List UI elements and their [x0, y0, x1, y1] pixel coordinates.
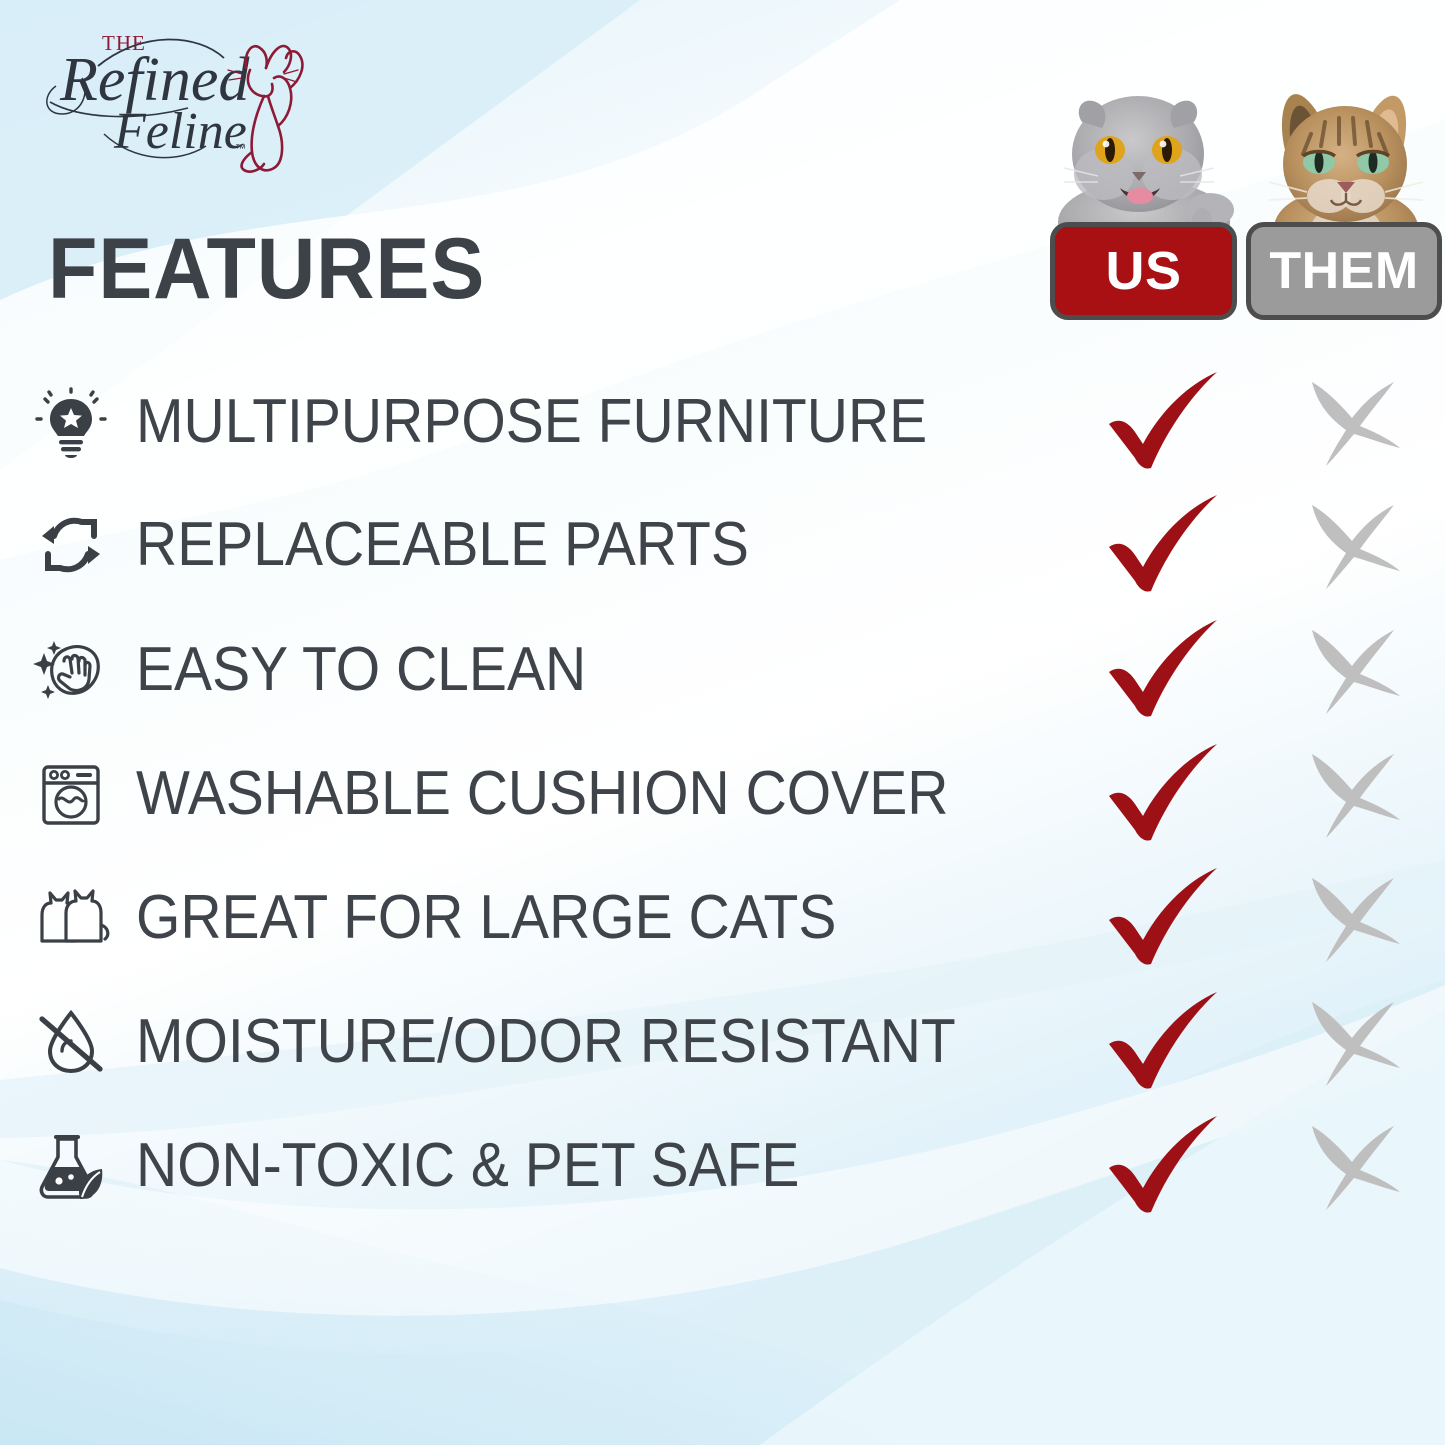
feature-label: MOISTURE/ODOR RESISTANT: [136, 1011, 956, 1073]
two-cats-icon: [32, 879, 110, 957]
cleaning-hand-icon: [32, 631, 110, 709]
flask-leaf-icon: [32, 1127, 110, 1205]
feature-label: MULTIPURPOSE FURNITURE: [136, 391, 927, 453]
grey-cross-icon: [1300, 996, 1404, 1088]
red-check-icon: [1105, 493, 1223, 597]
red-check-icon: [1105, 866, 1223, 970]
red-check-icon: [1105, 370, 1223, 474]
feature-row: GREAT FOR LARGE CATS: [0, 866, 1445, 970]
feature-row: MOISTURE/ODOR RESISTANT: [0, 990, 1445, 1094]
grey-cross-icon: [1300, 624, 1404, 716]
feature-row: MULTIPURPOSE FURNITURE: [0, 370, 1445, 474]
no-water-drop-icon: [32, 1003, 110, 1081]
grey-cross-icon: [1300, 872, 1404, 964]
grey-cross-icon: [1300, 1120, 1404, 1212]
feature-label: WASHABLE CUSHION COVER: [136, 763, 948, 825]
red-check-icon: [1105, 1114, 1223, 1218]
red-check-icon: [1105, 742, 1223, 846]
red-check-icon: [1105, 990, 1223, 1094]
feature-label: EASY TO CLEAN: [136, 639, 586, 701]
infographic-canvas: THE Refined Feline ™: [0, 0, 1445, 1445]
recycle-arrows-icon: [32, 506, 110, 584]
grey-cross-icon: [1300, 376, 1404, 468]
feature-row: NON-TOXIC & PET SAFE: [0, 1114, 1445, 1218]
feature-row: EASY TO CLEAN: [0, 618, 1445, 722]
red-check-icon: [1105, 618, 1223, 722]
washing-machine-icon: [32, 755, 110, 833]
feature-label: GREAT FOR LARGE CATS: [136, 887, 836, 949]
features-list: MULTIPURPOSE FURNITURE: [0, 0, 1445, 1445]
lightbulb-star-icon: [32, 383, 110, 461]
feature-row: WASHABLE CUSHION COVER: [0, 742, 1445, 846]
grey-cross-icon: [1300, 748, 1404, 840]
feature-row: REPLACEABLE PARTS: [0, 493, 1445, 597]
feature-label: NON-TOXIC & PET SAFE: [136, 1135, 799, 1197]
feature-label: REPLACEABLE PARTS: [136, 514, 749, 576]
grey-cross-icon: [1300, 499, 1404, 591]
